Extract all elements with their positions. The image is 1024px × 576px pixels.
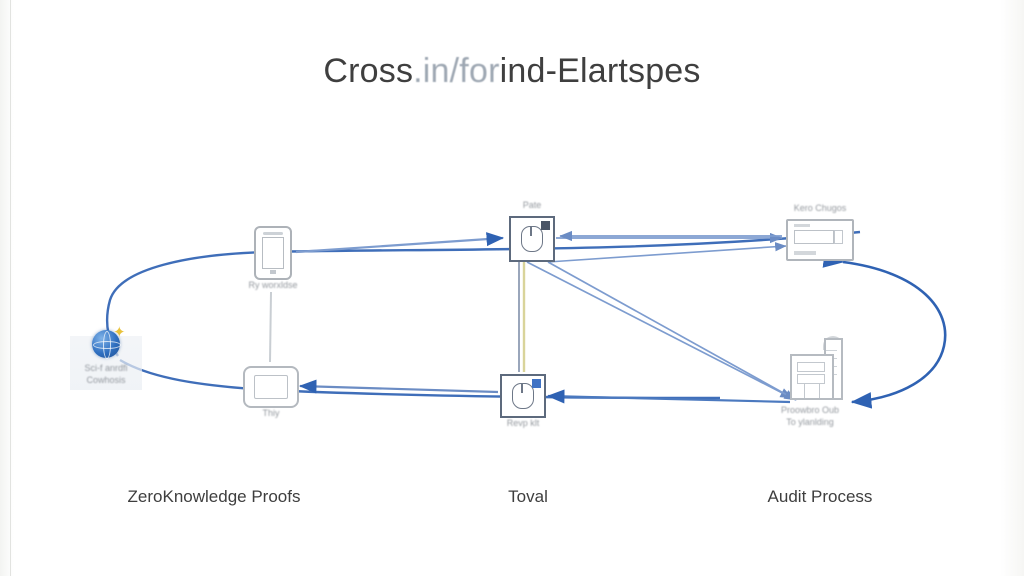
column-label-toval: Toval — [508, 487, 548, 507]
arrow-right-c-curve — [843, 262, 945, 402]
factory-window — [797, 362, 825, 372]
node-factory-caption: Proowbro Oub To ylanlding — [781, 404, 839, 428]
mobile-phone-icon — [254, 226, 292, 280]
node-center-bottom-caption: Revp klt — [507, 418, 540, 429]
diagram-canvas: Cross.in/forind-Elartspes — [0, 0, 1024, 576]
factory-door — [804, 383, 820, 398]
node-mobile[interactable]: Ry worxldse — [254, 226, 292, 280]
node-printer[interactable]: Thiy — [243, 366, 299, 408]
factory-building — [790, 354, 834, 400]
node-factory-caption-line-1: Proowbro Oub — [781, 404, 839, 416]
node-mobile-caption: Ry worxldse — [248, 280, 297, 291]
arrow-center-top-to-factory-b — [548, 262, 796, 400]
node-globe-caption-line-2: Cowhosis — [84, 374, 127, 386]
node-center-top-caption: Pate — [523, 200, 542, 211]
mouse-device-icon — [500, 374, 546, 418]
mouse-body — [521, 226, 543, 252]
mobile-home-button — [270, 270, 276, 274]
mouse-split — [530, 227, 532, 236]
node-globe-caption-line-1: Sci-f anrdfi — [84, 362, 127, 374]
mobile-speaker — [263, 232, 283, 235]
mouse-badge-icon — [541, 221, 550, 230]
node-server[interactable]: Kero Chugos — [786, 219, 854, 261]
mouse-split — [521, 384, 523, 393]
column-label-audit-process: Audit Process — [768, 487, 873, 507]
node-factory[interactable]: Proowbro Oub To ylanlding — [790, 340, 848, 400]
mouse-badge-icon — [532, 379, 541, 388]
factory-icon — [790, 340, 848, 400]
server-led — [834, 230, 843, 244]
mobile-screen — [262, 237, 284, 269]
column-label-zero-knowledge-proofs: ZeroKnowledge Proofs — [128, 487, 301, 507]
node-factory-caption-line-2: To ylanlding — [781, 416, 839, 428]
mouse-body — [512, 383, 534, 409]
server-lip — [794, 224, 810, 227]
arrow-loop-lower-left — [120, 360, 720, 398]
connector-mobile-printer — [270, 292, 271, 362]
node-center-bottom[interactable]: Revp klt — [500, 374, 546, 418]
server-foot — [794, 251, 816, 255]
arrow-center-bottom-to-printer — [300, 386, 498, 392]
globe-icon — [92, 330, 120, 358]
mouse-device-icon — [509, 216, 555, 262]
server-rack-icon — [786, 219, 854, 261]
factory-chimney-ring — [826, 350, 837, 351]
node-globe[interactable]: Sci-f anrdfi Cowhosis — [92, 330, 120, 358]
arrow-loop-upper-left — [107, 232, 860, 356]
fax-printer-panel — [254, 375, 288, 399]
globe-equator — [93, 341, 121, 349]
server-slot — [794, 230, 834, 244]
node-printer-caption: Thiy — [262, 408, 279, 419]
fax-printer-icon — [243, 366, 299, 408]
node-center-top[interactable]: Pate — [509, 216, 555, 262]
node-server-caption: Kero Chugos — [794, 203, 847, 214]
arrow-center-top-to-factory-a — [527, 262, 792, 398]
node-globe-caption: Sci-f anrdfi Cowhosis — [84, 362, 127, 386]
